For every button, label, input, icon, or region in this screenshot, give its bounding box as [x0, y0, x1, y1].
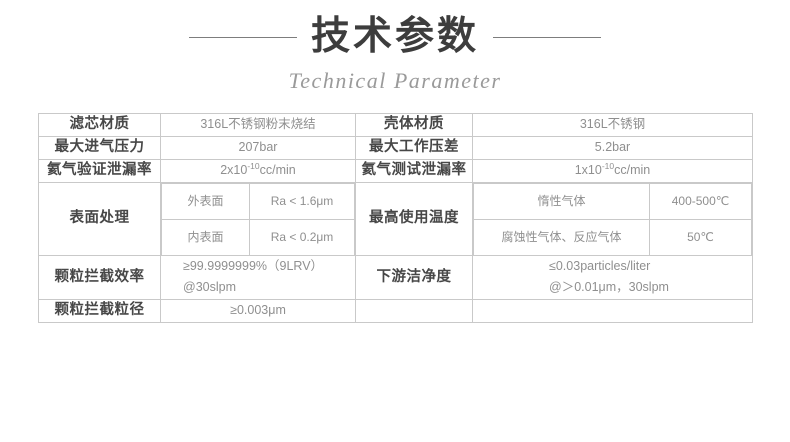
- cell-inert-gas-name: 惰性气体: [474, 183, 650, 219]
- table-row: 滤芯材质 316L不锈钢粉末烧结 壳体材质 316L不锈钢: [39, 113, 753, 136]
- cell-surface-treatment-nested: 外表面 Ra < 1.6μm 内表面 Ra < 0.2μm: [161, 182, 356, 255]
- cell-label-surface-treatment: 表面处理: [39, 182, 161, 255]
- cell-inner-surface-name: 内表面: [162, 219, 250, 255]
- table-row: 颗粒拦截粒径 ≥0.003μm: [39, 300, 753, 323]
- cleanliness-line1: ≤0.03particles/liter: [549, 256, 752, 278]
- leak-rate-right-mantissa: 1x10: [575, 163, 602, 177]
- cell-value-particle-retention-efficiency: ≥99.9999999%（9LRV） @30slpm: [161, 255, 356, 300]
- title-rule-right: [493, 37, 601, 38]
- spec-table-container: 滤芯材质 316L不锈钢粉末烧结 壳体材质 316L不锈钢 最大进气压力 207…: [38, 113, 752, 323]
- retention-efficiency-line2: @30slpm: [183, 277, 355, 299]
- cell-value-helium-verify-leak-rate: 2x10-10cc/min: [161, 159, 356, 182]
- leak-rate-right-exponent: -10: [602, 160, 614, 170]
- table-row: 最大进气压力 207bar 最大工作压差 5.2bar: [39, 136, 753, 159]
- page-header: 技术参数 Technical Parameter: [0, 0, 790, 94]
- cell-value-filter-material: 316L不锈钢粉末烧结: [161, 113, 356, 136]
- leak-rate-left-unit: cc/min: [260, 163, 296, 177]
- cell-label-helium-test-leak-rate: 氦气测试泄漏率: [356, 159, 473, 182]
- page-title: 技术参数: [311, 16, 479, 59]
- cell-label-housing-material: 壳体材质: [356, 113, 473, 136]
- cell-value-housing-material: 316L不锈钢: [473, 113, 753, 136]
- leak-rate-left-exponent: -10: [247, 160, 259, 170]
- leak-rate-right-unit: cc/min: [614, 163, 650, 177]
- cell-inner-surface-value: Ra < 0.2μm: [250, 219, 355, 255]
- subtable-row: 内表面 Ra < 0.2μm: [162, 219, 355, 255]
- cell-value-helium-test-leak-rate: 1x10-10cc/min: [473, 159, 753, 182]
- cell-outer-surface-value: Ra < 1.6μm: [250, 183, 355, 219]
- cell-label-max-working-pressure-diff: 最大工作压差: [356, 136, 473, 159]
- cell-max-temperature-nested: 惰性气体 400-500℃ 腐蚀性气体、反应气体 50℃: [473, 182, 753, 255]
- leak-rate-left-mantissa: 2x10: [220, 163, 247, 177]
- spec-table: 滤芯材质 316L不锈钢粉末烧结 壳体材质 316L不锈钢 最大进气压力 207…: [38, 113, 753, 323]
- surface-treatment-subtable: 外表面 Ra < 1.6μm 内表面 Ra < 0.2μm: [161, 183, 355, 255]
- max-temperature-subtable: 惰性气体 400-500℃ 腐蚀性气体、反应气体 50℃: [473, 183, 752, 255]
- cell-value-downstream-cleanliness: ≤0.03particles/liter @＞0.01μm，30slpm: [473, 255, 753, 300]
- subtable-row: 惰性气体 400-500℃: [474, 183, 752, 219]
- subtable-row: 外表面 Ra < 1.6μm: [162, 183, 355, 219]
- cell-value-particle-retention-size: ≥0.003μm: [161, 300, 356, 323]
- subtable-row: 腐蚀性气体、反应气体 50℃: [474, 219, 752, 255]
- cell-label-empty: [356, 300, 473, 323]
- table-row: 颗粒拦截效率 ≥99.9999999%（9LRV） @30slpm 下游洁净度 …: [39, 255, 753, 300]
- page-subtitle: Technical Parameter: [0, 68, 790, 94]
- title-row: 技术参数: [0, 16, 790, 59]
- cell-label-max-operating-temperature: 最高使用温度: [356, 182, 473, 255]
- cell-corrosive-gas-value: 50℃: [650, 219, 752, 255]
- cell-label-particle-retention-size: 颗粒拦截粒径: [39, 300, 161, 323]
- cell-value-empty: [473, 300, 753, 323]
- table-row: 表面处理 外表面 Ra < 1.6μm 内表面 Ra < 0.2μm: [39, 182, 753, 255]
- cell-label-max-inlet-pressure: 最大进气压力: [39, 136, 161, 159]
- cell-value-max-working-pressure-diff: 5.2bar: [473, 136, 753, 159]
- table-row: 氦气验证泄漏率 2x10-10cc/min 氦气测试泄漏率 1x10-10cc/…: [39, 159, 753, 182]
- cell-label-downstream-cleanliness: 下游洁净度: [356, 255, 473, 300]
- cell-value-max-inlet-pressure: 207bar: [161, 136, 356, 159]
- cell-corrosive-gas-name: 腐蚀性气体、反应气体: [474, 219, 650, 255]
- cell-inert-gas-value: 400-500℃: [650, 183, 752, 219]
- retention-efficiency-line1: ≥99.9999999%（9LRV）: [183, 256, 355, 278]
- cell-label-particle-retention-efficiency: 颗粒拦截效率: [39, 255, 161, 300]
- title-rule-left: [189, 37, 297, 38]
- cell-label-filter-material: 滤芯材质: [39, 113, 161, 136]
- cleanliness-line2: @＞0.01μm，30slpm: [549, 277, 752, 299]
- cell-label-helium-verify-leak-rate: 氦气验证泄漏率: [39, 159, 161, 182]
- cell-outer-surface-name: 外表面: [162, 183, 250, 219]
